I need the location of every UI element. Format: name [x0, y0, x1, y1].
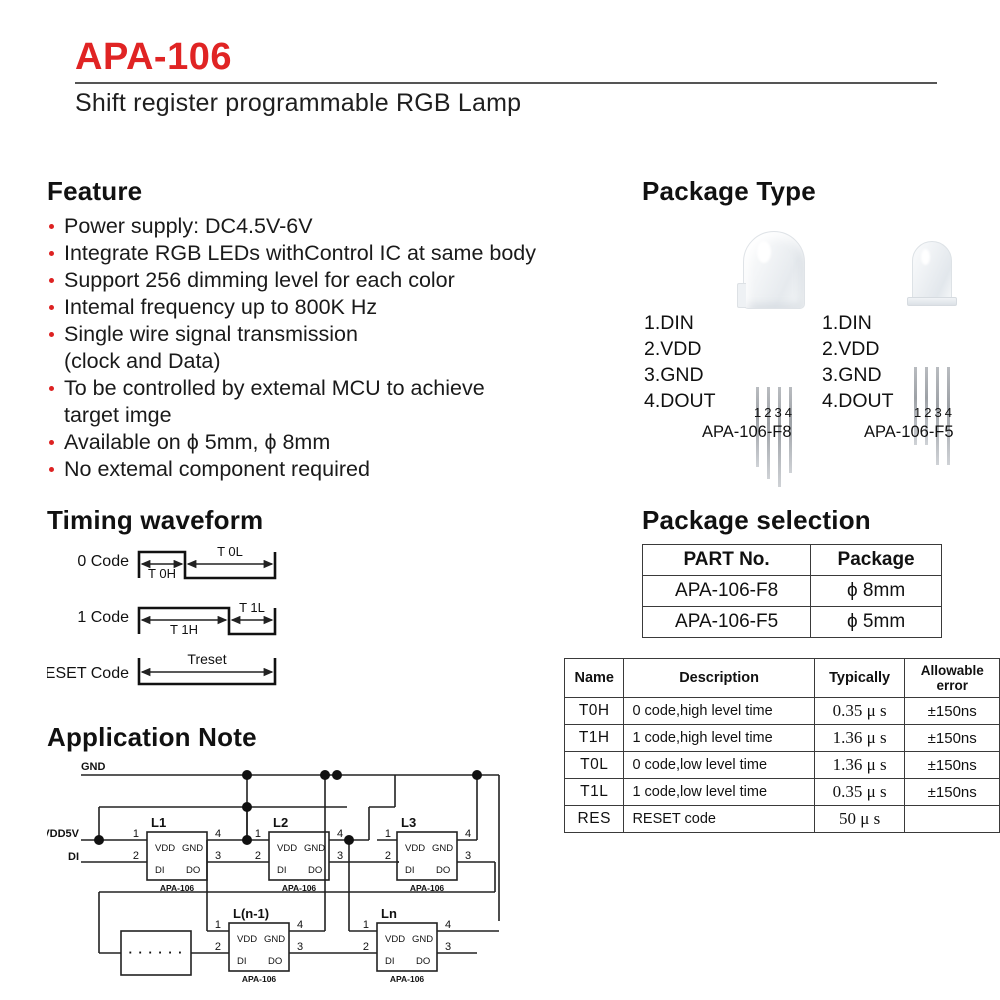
package-selection-section: Package selection PART No. Package APA-1… — [642, 505, 942, 638]
column-header-package: Package — [811, 545, 942, 576]
timing-waveform-diagram: 0 Code T 0H T 0L 1 Code T 1H T 1L RESET … — [47, 542, 387, 687]
column-header-description: Description — [624, 659, 814, 698]
rail-label-gnd: GND — [81, 761, 106, 773]
led-dome — [743, 231, 805, 309]
cell-part-no: APA-106-F8 — [643, 576, 811, 607]
device-label-l1: L1 — [151, 815, 166, 830]
feature-item: Single wire signal transmission (clock a… — [47, 321, 637, 375]
pin-num-3: 3 — [297, 941, 303, 953]
feature-list: Power supply: DC4.5V-6V Integrate RGB LE… — [47, 213, 637, 483]
pin-num-4: 4 — [337, 828, 343, 840]
chip-pin-di: DI — [405, 865, 415, 876]
pin-num-2: 2 — [363, 941, 369, 953]
feature-item: Intemal frequency up to 800K Hz — [47, 294, 637, 321]
chip-pin-gnd: GND — [182, 843, 203, 854]
column-header-allowable-error: Allowable error — [905, 659, 1000, 698]
package-type-section: Package Type 1234 APA-106-F8 — [642, 176, 992, 465]
feature-item: Available on ϕ 5mm, ϕ 8mm — [47, 429, 637, 456]
feature-item: Power supply: DC4.5V-6V — [47, 213, 637, 240]
device-label-l2: L2 — [273, 815, 288, 830]
cell-part-no: APA-106-F5 — [643, 607, 811, 638]
pin-num-1: 1 — [215, 919, 221, 931]
chip-pin-vdd: VDD — [237, 934, 257, 945]
rail-label-di: DI — [68, 851, 79, 863]
cell-typically: 0.35 μ s — [814, 779, 905, 806]
pin-label: 2.VDD — [644, 337, 716, 363]
f8-pin-numbers: 1234 — [754, 405, 795, 420]
pin-num-3: 3 — [337, 850, 343, 862]
pin-num-3: 3 — [465, 850, 471, 862]
timing-waveform-heading: Timing waveform — [47, 505, 447, 536]
pin-label: 1.DIN — [644, 311, 716, 337]
pin-num-4: 4 — [445, 919, 451, 931]
table-row: APA-106-F8 ϕ 8mm — [643, 576, 942, 607]
pin-num-1: 1 — [385, 828, 391, 840]
pin-label: 3.GND — [644, 363, 716, 389]
f5-pin-numbers: 1234 — [914, 405, 955, 420]
cell-typically: 1.36 μ s — [814, 725, 905, 752]
led-f5-image — [904, 241, 960, 311]
led-highlight — [921, 249, 930, 265]
cell-name: T1H — [565, 725, 624, 752]
rail-label-vdd5v: VDD5V — [47, 828, 80, 840]
chip-pin-gnd: GND — [304, 843, 325, 854]
chip-pin-gnd: GND — [264, 934, 285, 945]
pin-label: 4.DOUT — [644, 389, 716, 415]
led-flange — [907, 297, 957, 306]
pin-num-1: 1 — [363, 919, 369, 931]
pin-label: 4.DOUT — [822, 389, 894, 415]
table-row: T1H 1 code,high level time 1.36 μ s ±150… — [565, 725, 1000, 752]
chip-part-label: APA-106 — [410, 883, 445, 893]
pin-num-3: 3 — [215, 850, 221, 862]
t0h-label: T 0H — [148, 566, 176, 581]
table-row: APA-106-F5 ϕ 5mm — [643, 607, 942, 638]
led-flat-notch — [737, 283, 746, 308]
t0l-label: T 0L — [217, 544, 243, 559]
cell-error — [905, 806, 1000, 833]
led-highlight — [757, 241, 771, 263]
chip-part-label: APA-106 — [282, 883, 317, 893]
feature-heading: Feature — [47, 176, 637, 207]
cell-description: 1 code,low level time — [624, 779, 814, 806]
chip-pin-di: DI — [155, 865, 165, 876]
chip-pin-do: DO — [308, 865, 322, 876]
chip-pin-gnd: GND — [432, 843, 453, 854]
page-subtitle: Shift register programmable RGB Lamp — [75, 89, 937, 118]
chip-pin-vdd: VDD — [277, 843, 297, 854]
led-dome — [912, 241, 952, 303]
feature-item: To be controlled by extemal MCU to achie… — [47, 375, 637, 429]
application-circuit-diagram: GND VDD5V DI L1 VDD GND DI DO APA-106 1 … — [47, 761, 517, 983]
cell-error: ±150ns — [905, 752, 1000, 779]
application-note-section: Application Note — [47, 722, 547, 988]
cell-error: ±150ns — [905, 779, 1000, 806]
cell-description: 1 code,high level time — [624, 725, 814, 752]
chip-pin-vdd: VDD — [155, 843, 175, 854]
chip-pin-do: DO — [186, 865, 200, 876]
chip-part-label: APA-106 — [390, 974, 425, 983]
device-label-ln: Ln — [381, 906, 397, 921]
cell-package: ϕ 5mm — [811, 607, 942, 638]
cell-typically: 1.36 μ s — [814, 752, 905, 779]
treset-label: Treset — [187, 651, 226, 667]
table-header-row: Name Description Typically Allowable err… — [565, 659, 1000, 698]
table-row: RES RESET code 50 μ s — [565, 806, 1000, 833]
column-header-name: Name — [565, 659, 624, 698]
cell-description: RESET code — [624, 806, 814, 833]
cell-description: 0 code,high level time — [624, 698, 814, 725]
timing-parameter-table: Name Description Typically Allowable err… — [564, 658, 1000, 833]
cell-name: RES — [565, 806, 624, 833]
f8-caption: APA-106-F8 — [702, 423, 792, 442]
chip-pin-do: DO — [436, 865, 450, 876]
ellipsis-label: · · · · · · — [128, 945, 183, 960]
document-header: APA-106 Shift register programmable RGB … — [75, 38, 937, 118]
pin-num-1: 1 — [255, 828, 261, 840]
page-title: APA-106 — [75, 38, 937, 76]
timing-parameter-section: Name Description Typically Allowable err… — [564, 650, 1000, 833]
zero-code-label: 0 Code — [77, 553, 129, 570]
pin-label: 3.GND — [822, 363, 894, 389]
timing-waveform-section: Timing waveform 0 Code T 0H T 0L 1 Code … — [47, 505, 447, 692]
f8-pin-list: 1.DIN 2.VDD 3.GND 4.DOUT — [644, 311, 716, 415]
chip-pin-do: DO — [416, 956, 430, 967]
pin-num-2: 2 — [133, 850, 139, 862]
column-header-part-no: PART No. — [643, 545, 811, 576]
reset-code-label: RESET Code — [47, 665, 129, 682]
cell-error: ±150ns — [905, 725, 1000, 752]
feature-section: Feature Power supply: DC4.5V-6V Integrat… — [47, 176, 637, 483]
device-label-l3: L3 — [401, 815, 416, 830]
chip-pin-di: DI — [237, 956, 247, 967]
table-row: T0H 0 code,high level time 0.35 μ s ±150… — [565, 698, 1000, 725]
cell-typically: 0.35 μ s — [814, 698, 905, 725]
led-f8-image — [737, 231, 809, 311]
feature-item: No extemal component required — [47, 456, 637, 483]
package-figures: 1234 APA-106-F8 1234 APA-106-F5 1.DIN 2.… — [642, 215, 992, 465]
t1l-label: T 1L — [239, 600, 265, 615]
feature-item: Integrate RGB LEDs withControl IC at sam… — [47, 240, 637, 267]
package-selection-heading: Package selection — [642, 505, 942, 536]
pin-num-2: 2 — [255, 850, 261, 862]
pin-num-4: 4 — [297, 919, 303, 931]
pin-num-4: 4 — [465, 828, 471, 840]
chip-pin-gnd: GND — [412, 934, 433, 945]
t1h-label: T 1H — [170, 622, 198, 637]
package-type-heading: Package Type — [642, 176, 992, 207]
table-header-row: PART No. Package — [643, 545, 942, 576]
title-divider — [75, 82, 937, 84]
cell-description: 0 code,low level time — [624, 752, 814, 779]
pin-label: 2.VDD — [822, 337, 894, 363]
feature-item: Support 256 dimming level for each color — [47, 267, 637, 294]
table-row: T1L 1 code,low level time 0.35 μ s ±150n… — [565, 779, 1000, 806]
one-code-label: 1 Code — [77, 609, 129, 626]
cell-package: ϕ 8mm — [811, 576, 942, 607]
pin-num-2: 2 — [385, 850, 391, 862]
cell-typically: 50 μ s — [814, 806, 905, 833]
chip-part-label: APA-106 — [242, 974, 277, 983]
chip-pin-do: DO — [268, 956, 282, 967]
cell-name: T1L — [565, 779, 624, 806]
chip-pin-di: DI — [385, 956, 395, 967]
chip-pin-vdd: VDD — [405, 843, 425, 854]
pin-num-1: 1 — [133, 828, 139, 840]
cell-name: T0L — [565, 752, 624, 779]
package-selection-table: PART No. Package APA-106-F8 ϕ 8mm APA-10… — [642, 544, 942, 638]
device-label-ln-1: L(n-1) — [233, 906, 269, 921]
column-header-typically: Typically — [814, 659, 905, 698]
pin-num-3: 3 — [445, 941, 451, 953]
chip-part-label: APA-106 — [160, 883, 195, 893]
pin-num-4: 4 — [215, 828, 221, 840]
pin-label: 1.DIN — [822, 311, 894, 337]
application-note-heading: Application Note — [47, 722, 547, 753]
cell-error: ±150ns — [905, 698, 1000, 725]
chip-pin-vdd: VDD — [385, 934, 405, 945]
f5-pin-list: 1.DIN 2.VDD 3.GND 4.DOUT — [822, 311, 894, 415]
cell-name: T0H — [565, 698, 624, 725]
table-row: T0L 0 code,low level time 1.36 μ s ±150n… — [565, 752, 1000, 779]
pin-num-2: 2 — [215, 941, 221, 953]
chip-pin-di: DI — [277, 865, 287, 876]
f5-caption: APA-106-F5 — [864, 423, 954, 442]
